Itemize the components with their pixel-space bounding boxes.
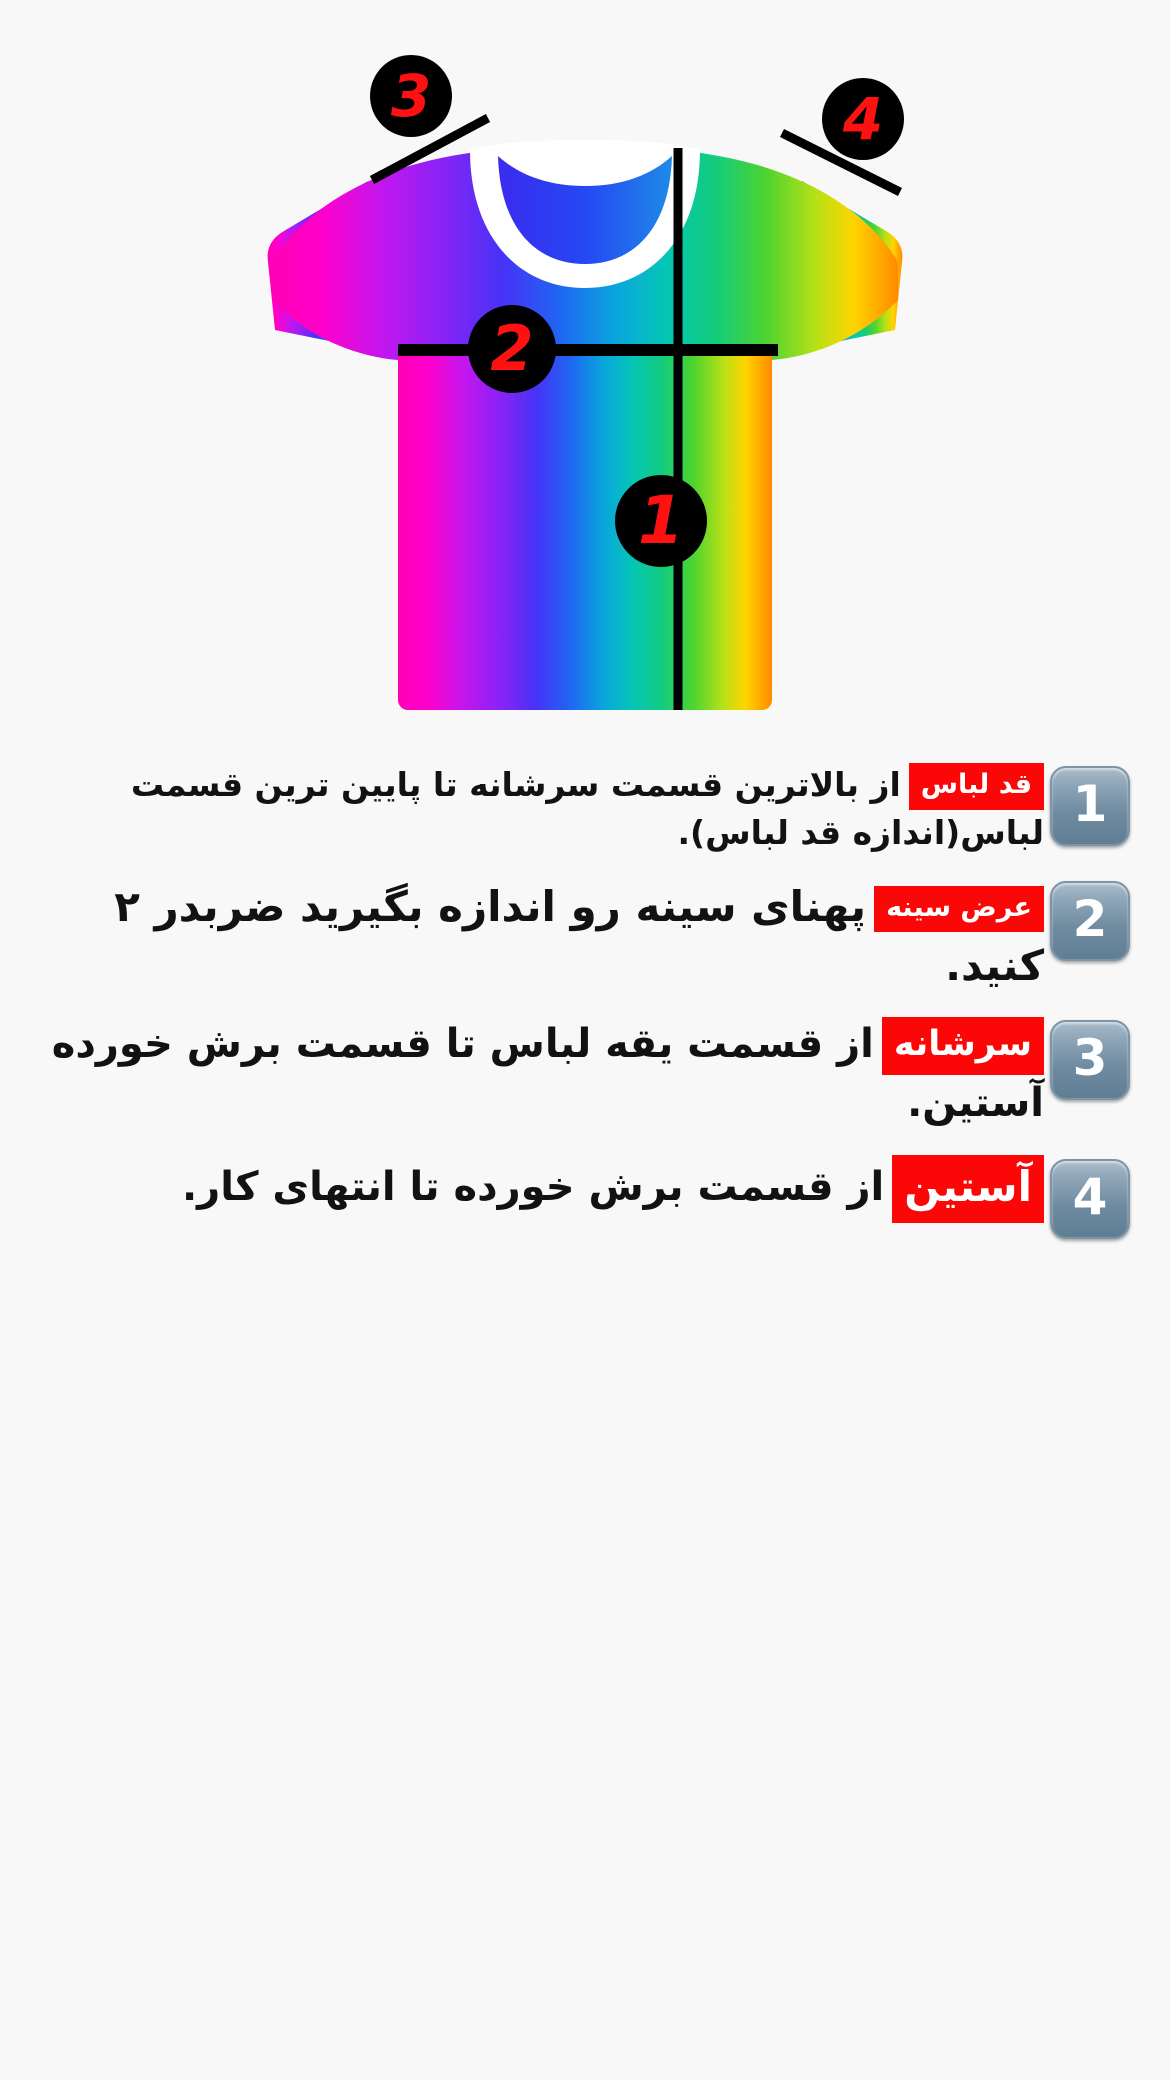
shirt-marker-3: 3 <box>370 55 452 137</box>
step-body-4: آستیناز قسمت برش خورده تا انتهای کار. <box>40 1155 1050 1223</box>
step-tag-1: قد لباس <box>909 763 1044 809</box>
list-item: 3 سرشانهاز قسمت یقه لباس تا قسمت برش خور… <box>0 1016 1170 1132</box>
shirt-marker-1: 1 <box>615 475 707 567</box>
step-text-4: از قسمت برش خورده تا انتهای کار. <box>182 1164 884 1210</box>
step-body-1: قد لباساز بالاترین قسمت سرشانه تا پایین … <box>40 762 1050 857</box>
tshirt-graphic <box>0 0 1170 760</box>
step-body-3: سرشانهاز قسمت یقه لباس تا قسمت برش خورده… <box>40 1016 1050 1132</box>
shirt-marker-2: 2 <box>468 305 556 393</box>
step-tag-3: سرشانه <box>882 1017 1044 1075</box>
step-tag-2: عرض سینه <box>874 886 1044 932</box>
step-number-badge-2: 2 <box>1050 881 1130 961</box>
step-number-badge-1: 1 <box>1050 766 1130 846</box>
step-number-badge-4: 4 <box>1050 1159 1130 1239</box>
list-item: 2 عرض سینهپهنای سینه رو اندازه بگیرید ضر… <box>0 877 1170 996</box>
list-item: 4 آستیناز قسمت برش خورده تا انتهای کار. <box>0 1155 1170 1239</box>
list-item: 1 قد لباساز بالاترین قسمت سرشانه تا پایی… <box>0 762 1170 857</box>
step-text-1: از بالاترین قسمت سرشانه تا پایین ترین قس… <box>131 765 1044 852</box>
tshirt-illustration: 3 4 2 1 <box>0 0 1170 760</box>
step-tag-4: آستین <box>892 1155 1044 1223</box>
step-number-badge-3: 3 <box>1050 1020 1130 1100</box>
instruction-list: 1 قد لباساز بالاترین قسمت سرشانه تا پایی… <box>0 762 1170 1253</box>
step-body-2: عرض سینهپهنای سینه رو اندازه بگیرید ضربد… <box>40 877 1050 996</box>
shirt-marker-4: 4 <box>822 78 904 160</box>
